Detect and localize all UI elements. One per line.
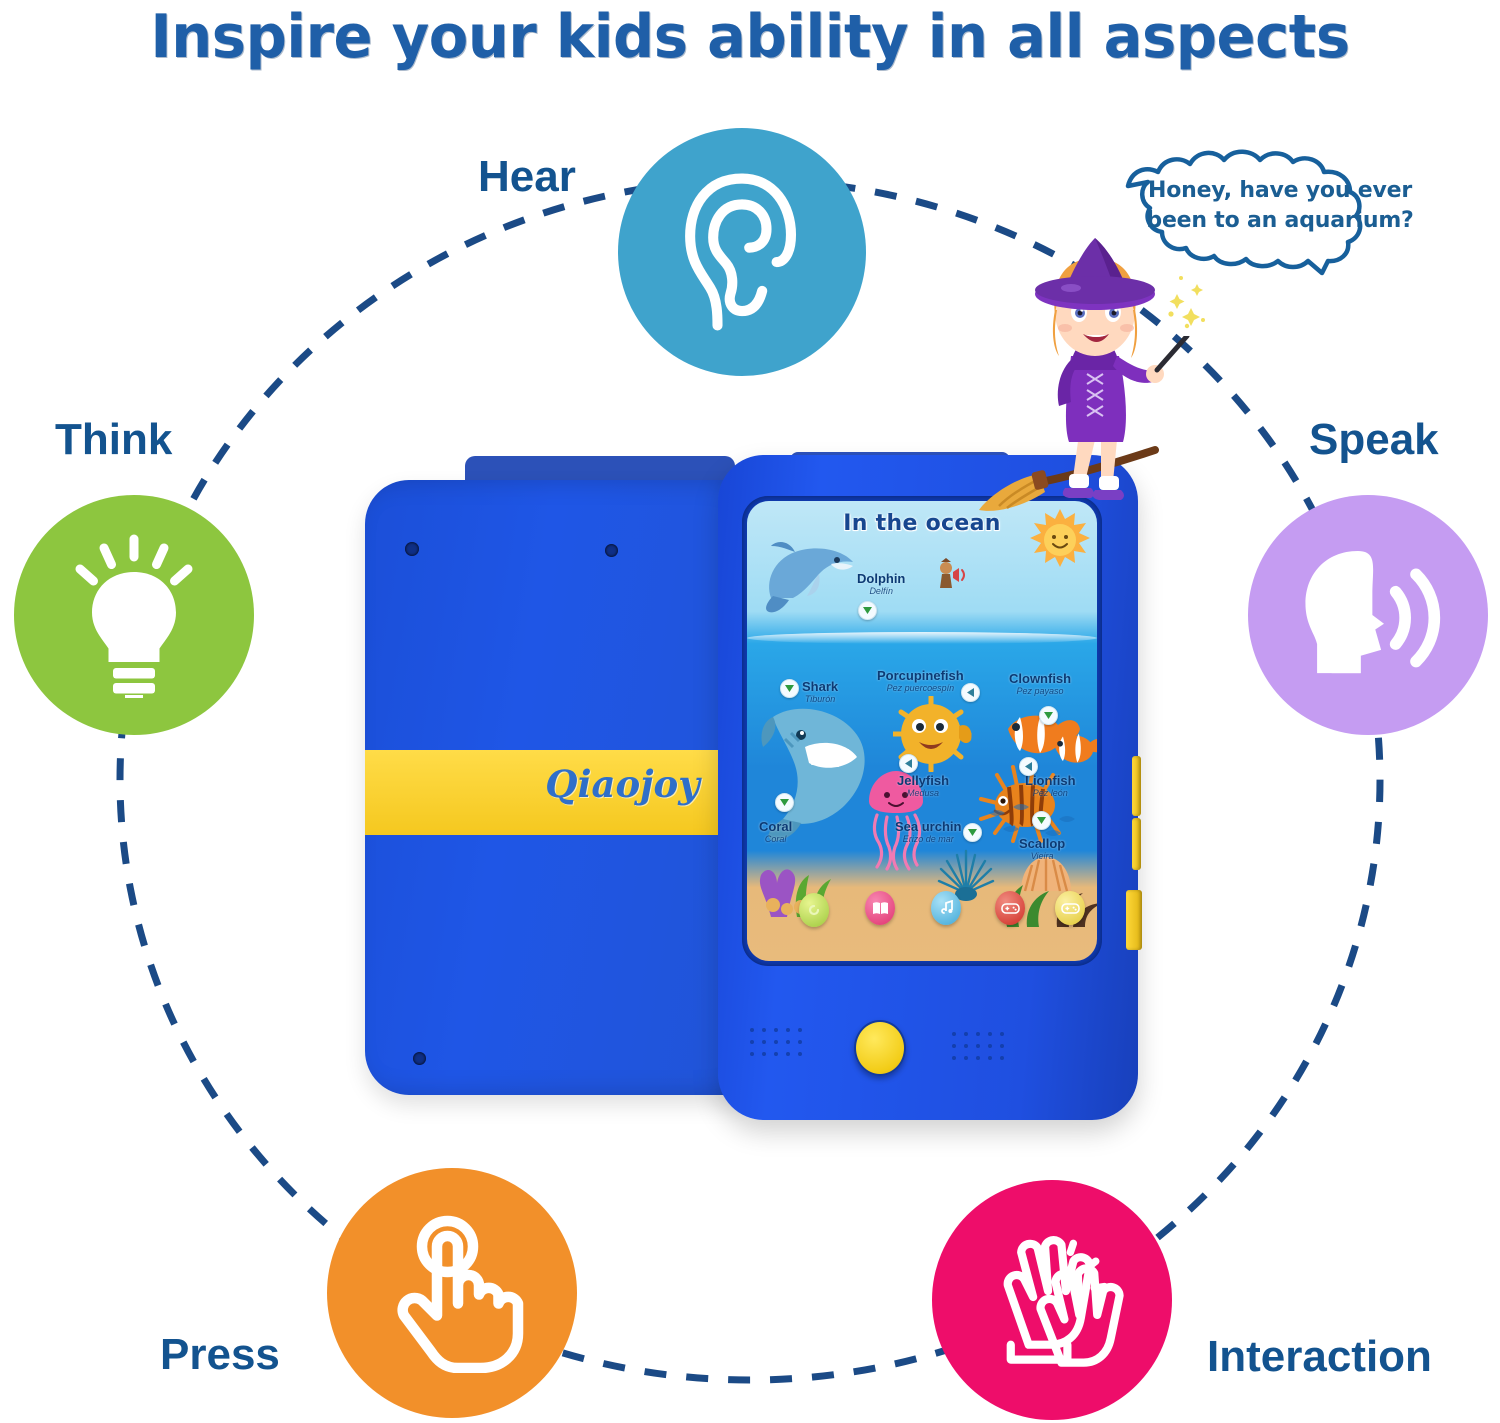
ear-icon — [667, 167, 817, 337]
speech-bubble-text: Honey, have you everbeen to an aquarium? — [1134, 176, 1426, 236]
back-camera-bottom-icon — [413, 1052, 426, 1065]
home-button[interactable] — [854, 1020, 906, 1076]
volume-up-button[interactable] — [1132, 756, 1141, 816]
fish-label: ClownfishPez payaso — [1009, 671, 1071, 696]
brand-logo: Qiaojoy — [365, 762, 770, 806]
feature-label-interaction: Interaction — [1207, 1332, 1432, 1382]
water-surface — [747, 632, 1097, 644]
gamepad-yellow-icon[interactable] — [1055, 891, 1085, 925]
hotspot-porcupinefish[interactable] — [961, 683, 980, 702]
speaker-grille-right — [952, 1032, 1020, 1068]
hotspot-dolphin[interactable] — [858, 601, 877, 620]
open-book-glyph-icon — [872, 901, 889, 916]
fish-label: LionfishPez león — [1025, 773, 1076, 798]
play-triangle-left-icon — [1023, 761, 1034, 772]
play-triangle-down-icon — [862, 605, 873, 616]
play-triangle-down-icon — [779, 797, 790, 808]
double-note-glyph-icon — [938, 900, 954, 916]
fish-label: ScallopVieira — [1019, 836, 1065, 861]
device-screen[interactable]: In the ocean DolphinDelfín SharkTiburón … — [747, 501, 1097, 961]
fish-label: CoralCoral — [759, 819, 792, 844]
glow-orb-icon[interactable] — [799, 893, 829, 927]
hear-bubble[interactable] — [618, 128, 866, 376]
hotspot-jellyfish[interactable] — [899, 754, 918, 773]
spiral-glyph-icon — [806, 902, 822, 918]
speaker-grille-left — [750, 1028, 818, 1064]
play-triangle-left-icon — [965, 687, 976, 698]
play-triangle-down-icon — [1043, 710, 1054, 721]
dolphin-illustration — [759, 536, 859, 616]
tap-hand-icon — [377, 1213, 527, 1373]
hotspot-clownfish[interactable] — [1039, 706, 1058, 725]
feature-label-speak: Speak — [1309, 415, 1439, 465]
back-camera-center-icon — [605, 544, 618, 557]
speak-bubble[interactable] — [1248, 495, 1488, 735]
fish-label: PorcupinefishPez puercoespín — [877, 668, 964, 693]
clapping-hands-icon — [975, 1225, 1130, 1375]
press-bubble[interactable] — [327, 1168, 577, 1418]
music-note-icon[interactable] — [931, 891, 961, 925]
product-infographic: Inspire your kids ability in all aspects… — [0, 0, 1500, 1423]
book-icon[interactable] — [865, 891, 895, 925]
page-title: Inspire your kids ability in all aspects — [30, 2, 1470, 72]
volume-down-button[interactable] — [1132, 818, 1141, 870]
play-triangle-down-icon — [967, 827, 978, 838]
think-bubble[interactable] — [14, 495, 254, 735]
feature-label-think: Think — [55, 415, 172, 465]
play-triangle-down-icon — [784, 683, 795, 694]
gamepad-red-icon[interactable] — [995, 891, 1025, 925]
fish-label: SharkTiburón — [802, 679, 838, 704]
hotspot-shark[interactable] — [780, 679, 799, 698]
feature-label-hear: Hear — [478, 152, 576, 202]
hotspot-coral[interactable] — [775, 793, 794, 812]
feature-label-press: Press — [160, 1330, 280, 1380]
gamepad-glyph-icon — [1001, 902, 1020, 915]
fish-label: Sea urchinErizo de mar — [895, 819, 961, 844]
hotspot-sea-urchin[interactable] — [963, 823, 982, 842]
gamepad-glyph-icon — [1061, 902, 1080, 915]
witch-girl-character — [975, 238, 1205, 518]
lightbulb-icon — [59, 533, 209, 698]
back-camera-left-icon — [405, 542, 419, 556]
hotspot-scallop[interactable] — [1032, 811, 1051, 830]
play-triangle-down-icon — [1036, 815, 1047, 826]
play-triangle-left-icon — [903, 758, 914, 769]
power-button[interactable] — [1126, 890, 1142, 950]
device-screen-bezel: In the ocean DolphinDelfín SharkTiburón … — [742, 496, 1102, 966]
fish-label: JellyfishMedusa — [897, 773, 949, 798]
hotspot-lionfish[interactable] — [1019, 757, 1038, 776]
broomstick-icon — [979, 450, 1155, 511]
mini-character-speaker-icon — [935, 558, 971, 592]
fish-label: DolphinDelfín — [857, 571, 905, 596]
speaking-head-icon — [1288, 540, 1448, 690]
interaction-bubble[interactable] — [932, 1180, 1172, 1420]
